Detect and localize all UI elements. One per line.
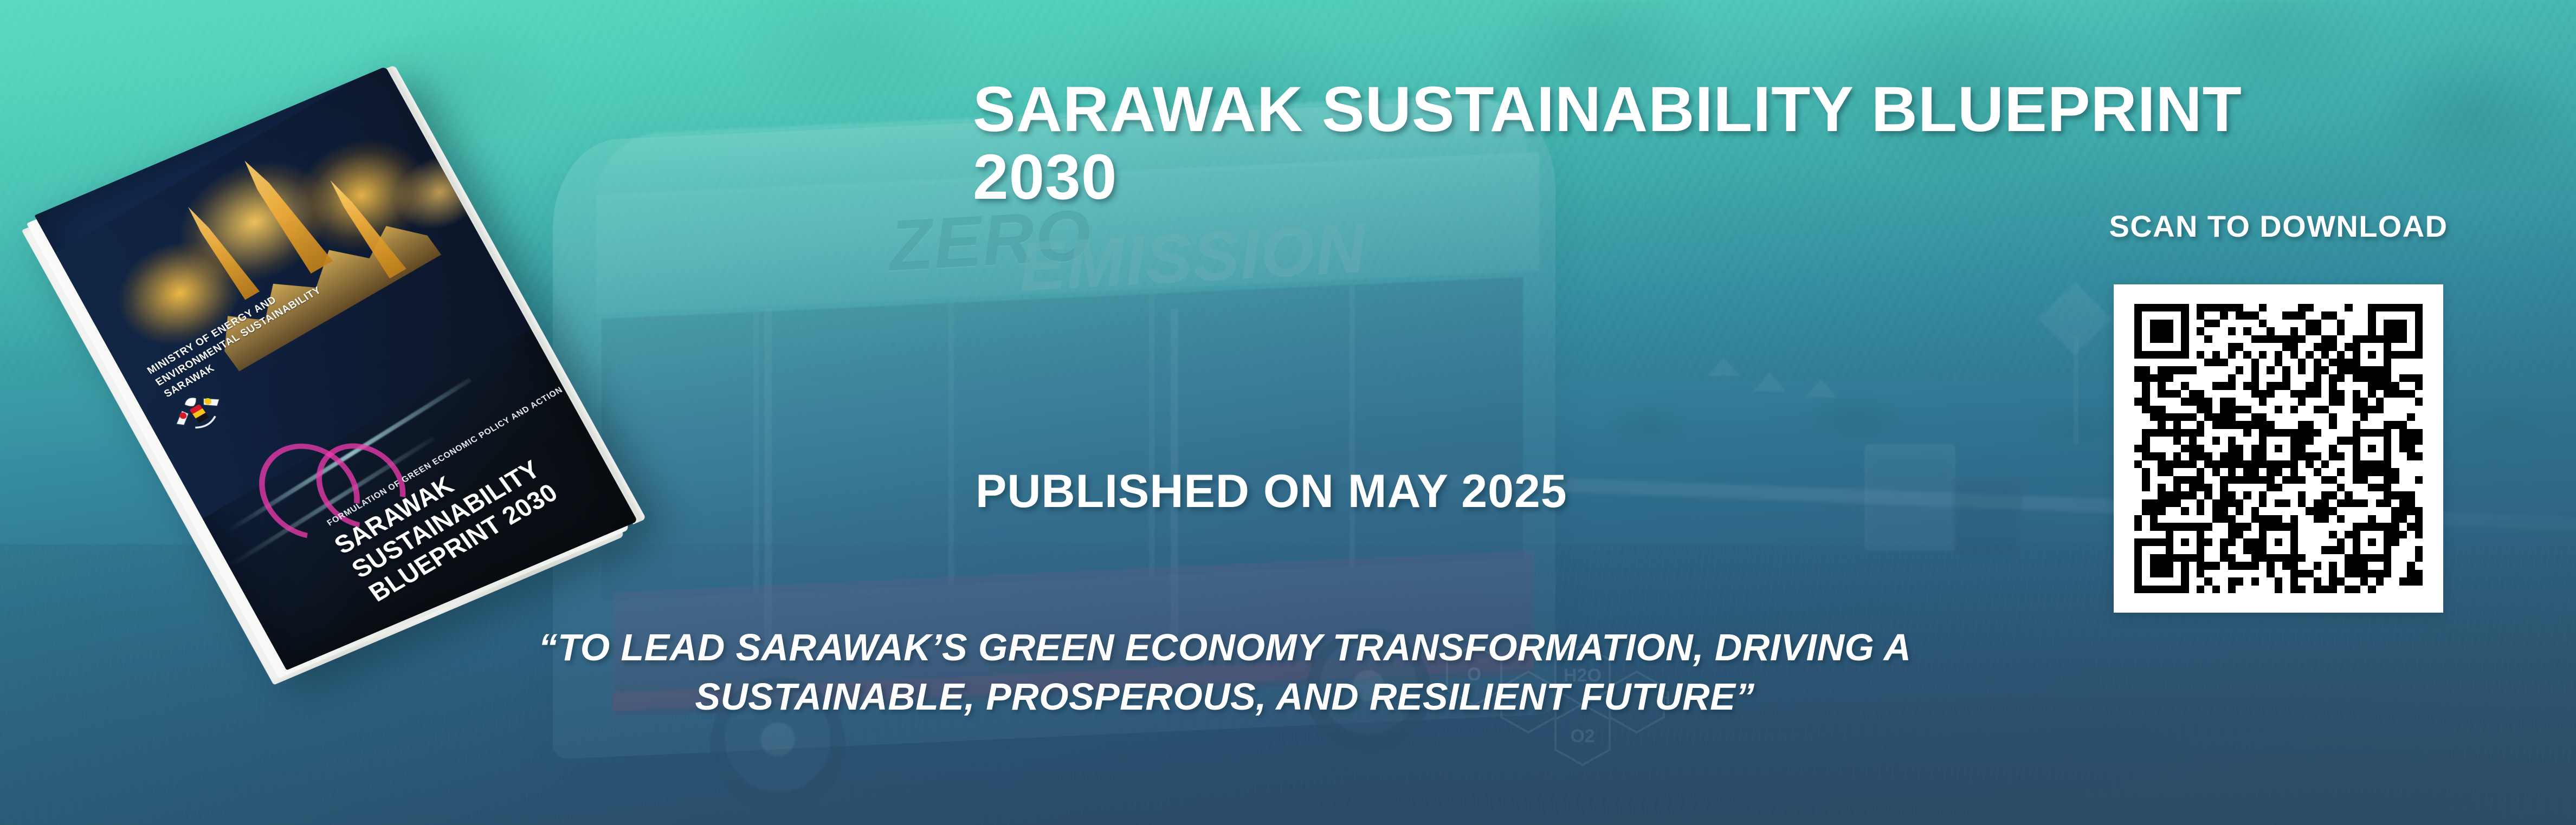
publication-date: PUBLISHED ON MAY 2025 bbox=[976, 465, 1567, 518]
qr-code[interactable] bbox=[2114, 284, 2443, 613]
headline-line-2: 2030 bbox=[973, 144, 2436, 211]
scan-to-download-label: SCAN TO DOWNLOAD bbox=[2079, 209, 2478, 244]
book-3d: MINISTRY OF ENERGY AND ENVIRONMENTAL SUS… bbox=[34, 67, 637, 671]
qr-code-icon[interactable] bbox=[2134, 304, 2423, 593]
headline-line-1: SARAWAK SUSTAINABILITY BLUEPRINT bbox=[973, 76, 2436, 144]
vision-quote: “TO LEAD SARAWAK’S GREEN ECONOMY TRANSFO… bbox=[412, 623, 2038, 722]
book-cover: MINISTRY OF ENERGY AND ENVIRONMENTAL SUS… bbox=[34, 67, 637, 671]
page-title: SARAWAK SUSTAINABILITY BLUEPRINT 2030 bbox=[973, 76, 2436, 211]
sustainability-blueprint-banner: ZERO EMISSION H2O O H O2 bbox=[0, 0, 2576, 825]
book-mockup: MINISTRY OF ENERGY AND ENVIRONMENTAL SUS… bbox=[81, 60, 851, 699]
quote-line-2: SUSTAINABLE, PROSPEROUS, AND RESILIENT F… bbox=[412, 672, 2038, 722]
quote-line-1: “TO LEAD SARAWAK’S GREEN ECONOMY TRANSFO… bbox=[412, 623, 2038, 672]
